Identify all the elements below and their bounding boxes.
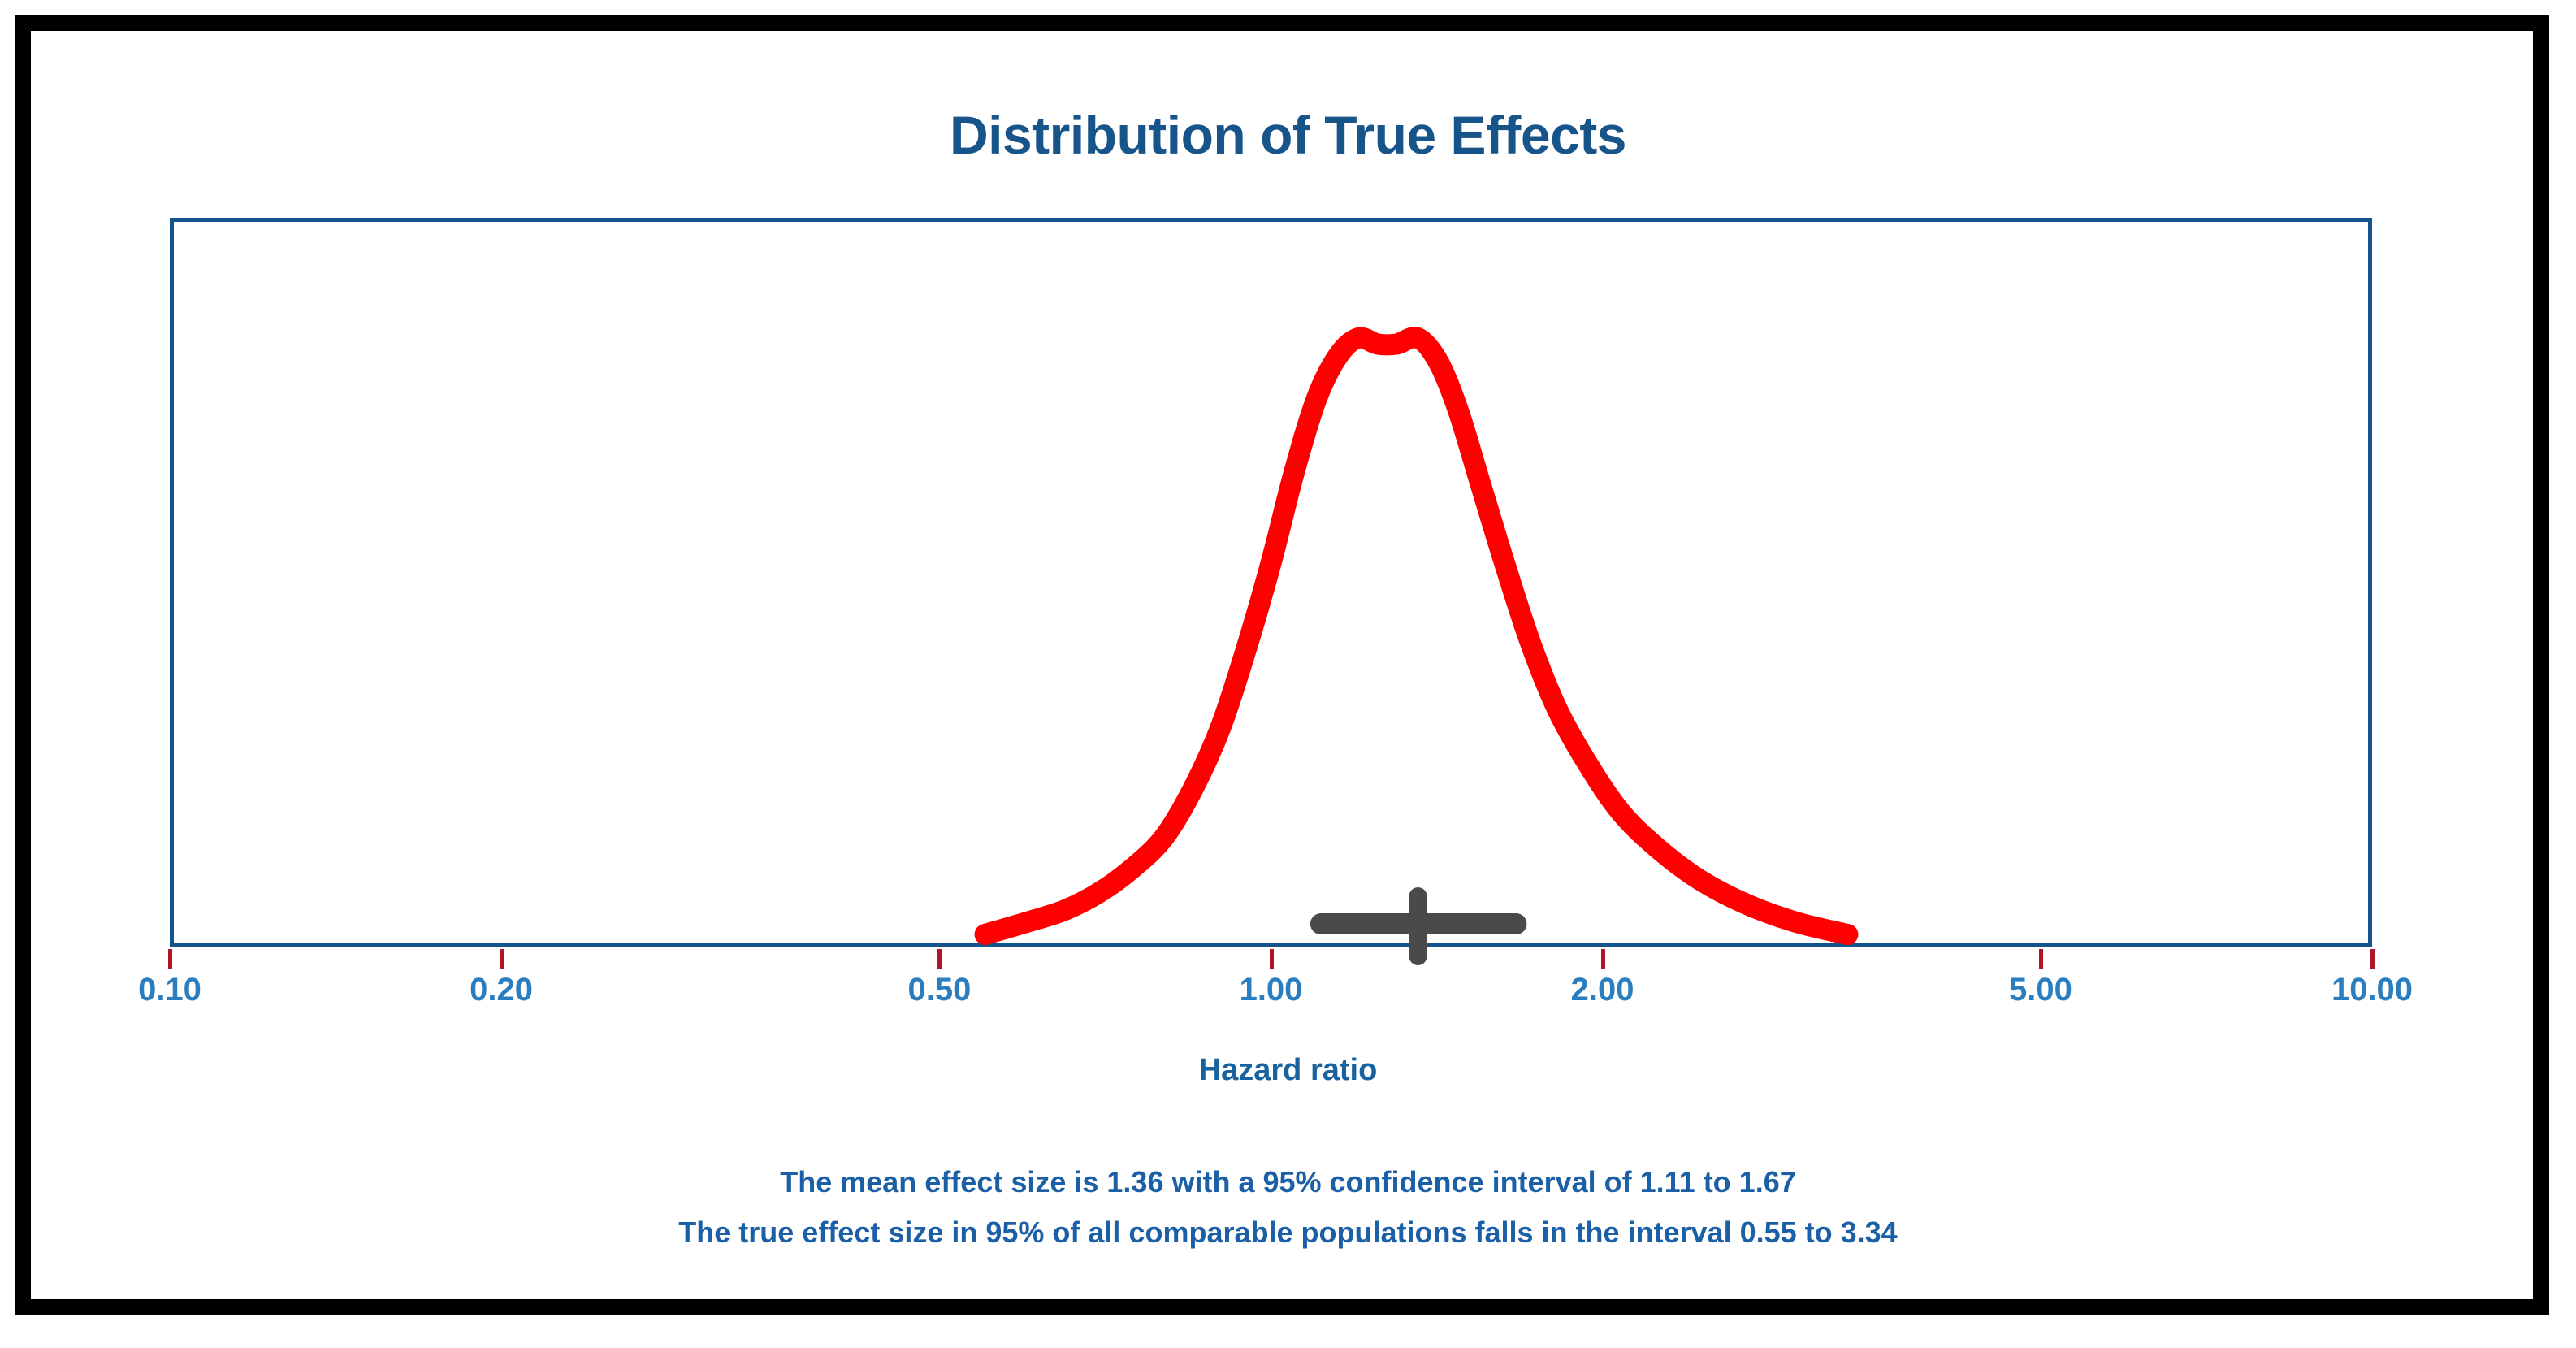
figure-root: Distribution of True Effects 0.100.200.5… <box>0 0 2576 1348</box>
x-axis-tick-label: 1.00 <box>1240 972 1303 1008</box>
x-axis-tick-label: 2.00 <box>1571 972 1634 1008</box>
distribution-curve <box>170 218 2372 949</box>
x-axis-tick-mark <box>500 949 504 969</box>
chart-title: Distribution of True Effects <box>0 104 2576 166</box>
x-axis-tick-label: 0.20 <box>470 972 533 1008</box>
chart-canvas: Distribution of True Effects 0.100.200.5… <box>0 0 2576 1348</box>
x-axis-tick-mark <box>1270 949 1274 969</box>
x-axis-tick-mark <box>2370 949 2375 969</box>
x-axis-tick-label: 0.50 <box>908 972 972 1008</box>
x-axis-tick-label: 0.10 <box>138 972 201 1008</box>
footnote-line: The true effect size in 95% of all compa… <box>0 1207 2576 1258</box>
x-axis-tick-mark <box>2039 949 2043 969</box>
x-axis-tick-label: 5.00 <box>2009 972 2072 1008</box>
footnote-block: The mean effect size is 1.36 with a 95% … <box>0 1157 2576 1258</box>
x-axis-tick-mark <box>937 949 942 969</box>
true-effects-density-path <box>985 337 1848 934</box>
x-axis-tick-mark <box>168 949 172 969</box>
footnote-line: The mean effect size is 1.36 with a 95% … <box>0 1157 2576 1207</box>
x-axis-title: Hazard ratio <box>0 1053 2576 1088</box>
x-axis-tick-label: 10.00 <box>2331 972 2413 1008</box>
x-axis-tick-mark <box>1601 949 1605 969</box>
